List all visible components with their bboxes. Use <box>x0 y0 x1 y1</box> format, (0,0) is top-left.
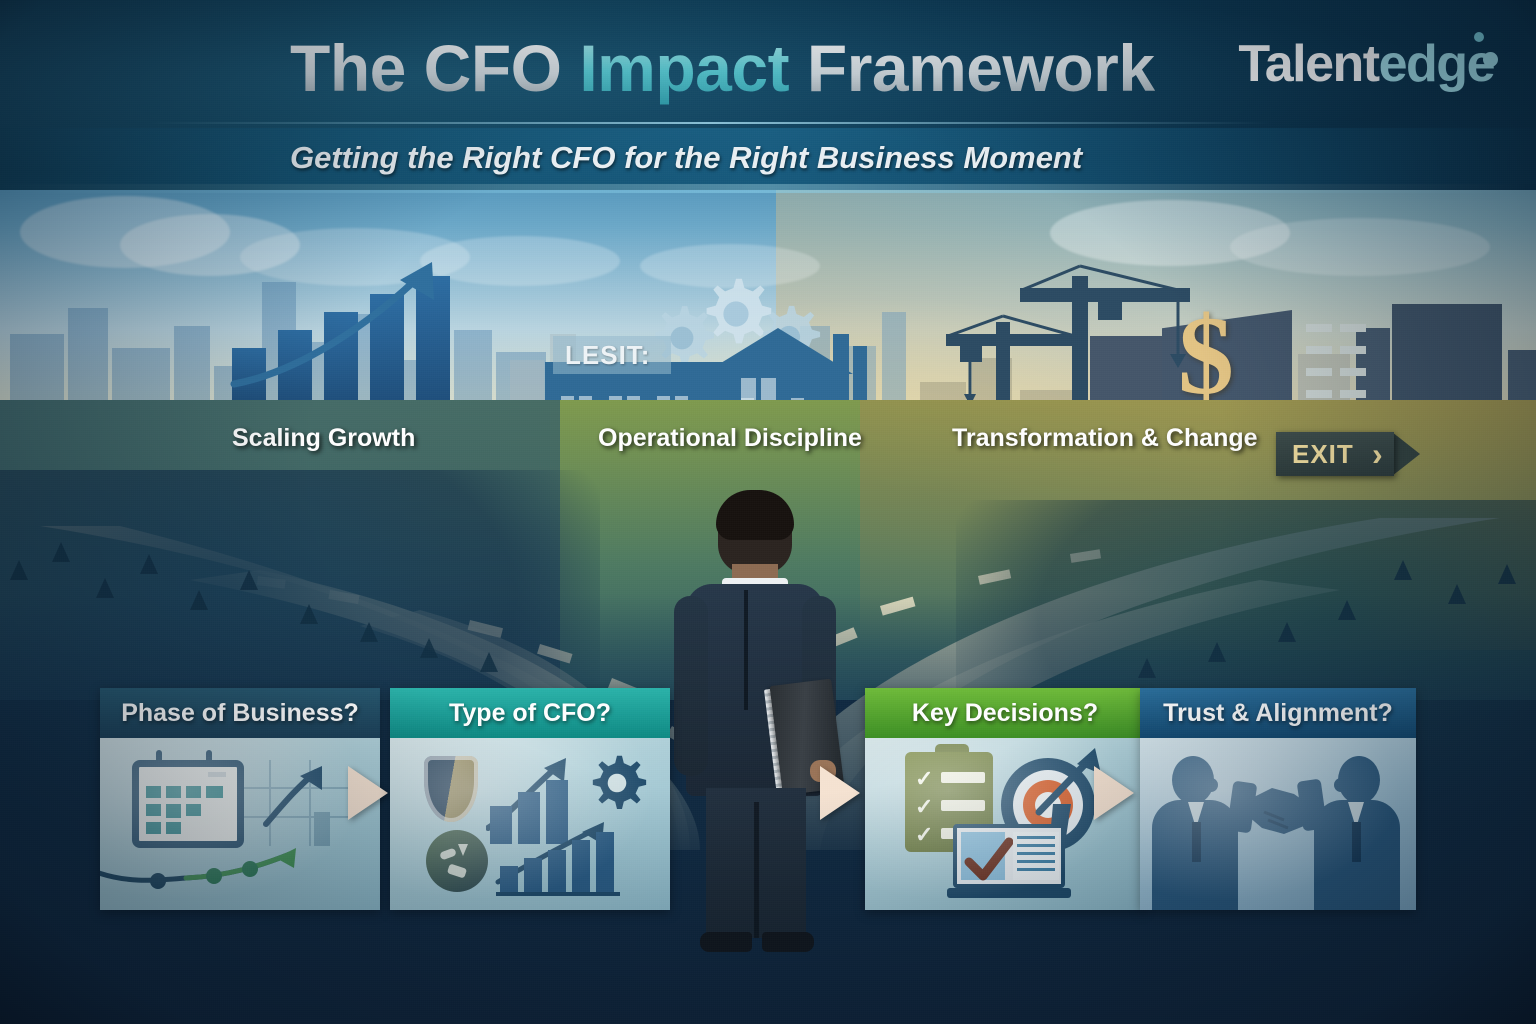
arrow-right-icon <box>348 766 388 820</box>
shield-icon <box>424 756 478 822</box>
cfo-badge-icon <box>426 830 488 892</box>
panel-key-decisions-label: Key Decisions? <box>912 699 1098 728</box>
panel-type-of-cfo-header: Type of CFO? <box>390 688 670 738</box>
panel-key-decisions-body: ✓ ✓ ✓ <box>865 738 1145 910</box>
header-underglow <box>0 184 1536 193</box>
scene-label-operational-discipline: Operational Discipline <box>598 424 862 453</box>
panel-trust-alignment[interactable]: Trust & Alignment? <box>1140 688 1416 910</box>
gear-icon <box>586 752 648 814</box>
page-title-part1: The CFO <box>290 31 579 105</box>
factory-sign-text: LESIT: <box>565 340 650 371</box>
scene-label-scaling-growth: Scaling Growth <box>232 424 415 453</box>
trend-arrow-icon <box>262 760 328 830</box>
panel-phase-of-business-label: Phase of Business? <box>121 699 359 728</box>
panel-trust-alignment-label: Trust & Alignment? <box>1163 699 1393 728</box>
panel-phase-of-business-header: Phase of Business? <box>100 688 380 738</box>
grid-icon <box>230 760 350 846</box>
upward-arrow-icon <box>228 252 458 392</box>
infographic-canvas: LESIT: <box>0 0 1536 1024</box>
dollar-sign-icon: $ <box>1178 300 1234 412</box>
target-dart-icon <box>995 752 1103 860</box>
exit-sign-label: EXIT <box>1292 439 1354 470</box>
chevron-right-icon: › <box>1372 438 1383 470</box>
page-title: The CFO Impact Framework <box>290 26 1220 110</box>
page-subtitle: Getting the Right CFO for the Right Busi… <box>290 136 1190 180</box>
panel-type-of-cfo-label: Type of CFO? <box>449 699 611 728</box>
page-title-part3: Framework <box>789 31 1154 105</box>
panel-type-of-cfo[interactable]: Type of CFO? <box>390 688 670 910</box>
panel-trust-alignment-body <box>1140 738 1416 910</box>
forest-trees-icon <box>976 530 1536 710</box>
factory-sign: LESIT: <box>553 336 671 374</box>
scene-label-transformation-change: Transformation & Change <box>952 424 1258 453</box>
panel-trust-alignment-header: Trust & Alignment? <box>1140 688 1416 738</box>
title-divider <box>150 122 1270 124</box>
logo-dot-small-icon <box>1474 32 1484 42</box>
panel-type-of-cfo-body <box>390 738 670 910</box>
panel-phase-of-business-body <box>100 738 380 910</box>
bar-chart-arrow-icon <box>486 750 586 846</box>
panel-key-decisions-header: Key Decisions? <box>865 688 1145 738</box>
logo-text-accent: edge <box>1379 35 1494 93</box>
page-title-accent: Impact <box>579 31 789 105</box>
framework-panels: Phase of Business? <box>0 688 1536 918</box>
laptop-checkmark-icon <box>947 824 1071 904</box>
clipboard-checklist-icon: ✓ ✓ ✓ <box>905 752 997 858</box>
calendar-icon <box>132 760 244 848</box>
logo-text-primary: Talent <box>1238 35 1378 93</box>
arrow-right-icon <box>820 766 860 820</box>
exit-arrow-icon <box>1392 432 1420 476</box>
growth-bars-icon <box>494 816 634 900</box>
logo-dot-large-icon <box>1483 52 1498 67</box>
timeline-dots-icon <box>100 846 330 900</box>
talentedge-logo[interactable]: Talentedge <box>1238 34 1494 96</box>
arrow-right-icon <box>1094 766 1134 820</box>
forest-trees-icon <box>0 520 620 700</box>
panel-phase-of-business[interactable]: Phase of Business? <box>100 688 380 910</box>
